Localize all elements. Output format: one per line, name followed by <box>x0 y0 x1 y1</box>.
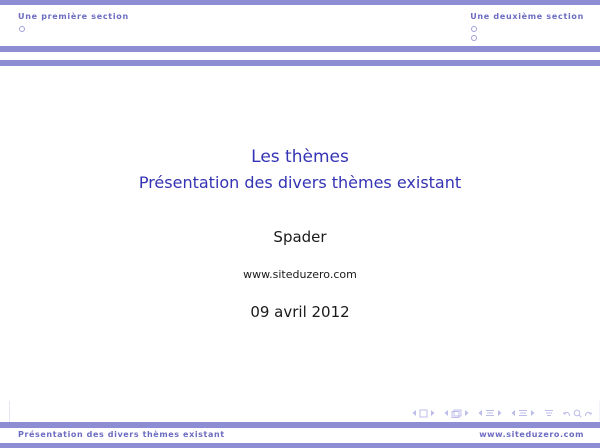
forward-arrow-icon[interactable] <box>584 409 592 418</box>
nav-section-2-label: Une deuxième section <box>470 11 584 23</box>
next-frame-icon[interactable] <box>464 409 469 417</box>
presentation-date: 09 avril 2012 <box>0 303 600 321</box>
footline: Présentation des divers thèmes existant … <box>0 428 600 443</box>
beamer-navigation-symbols[interactable] <box>412 405 592 421</box>
section-lines-icon[interactable] <box>518 409 528 418</box>
header-rule-gap <box>0 52 600 60</box>
back-arrow-icon[interactable] <box>563 409 571 418</box>
header-section-navigation: Une première section Une deuxième sectio… <box>0 5 600 46</box>
nav-section-1-dots <box>18 26 129 32</box>
nav-section-2[interactable]: Une deuxième section <box>470 11 584 44</box>
nav-section-1[interactable]: Une première section <box>18 11 129 35</box>
frame-stack-icon[interactable] <box>451 409 462 418</box>
frame-navigation-group[interactable] <box>444 409 469 418</box>
slide-square-icon[interactable] <box>419 409 428 418</box>
subsection-navigation-group[interactable] <box>478 409 502 418</box>
footline-title: Présentation des divers thèmes existant <box>18 430 225 439</box>
prev-frame-icon[interactable] <box>444 409 449 417</box>
back-search-forward-group[interactable] <box>563 409 592 418</box>
institute-url: www.siteduzero.com <box>0 268 600 281</box>
next-slide-icon[interactable] <box>430 409 435 417</box>
footer-rule-lower <box>0 443 600 448</box>
page-title: Les thèmes <box>0 144 600 170</box>
author-name: Spader <box>0 228 600 246</box>
title-block: Les thèmes Présentation des divers thème… <box>0 144 600 196</box>
subsection-dot[interactable] <box>19 26 25 32</box>
nav-section-2-dots <box>470 26 584 41</box>
presentation-navigation-group[interactable] <box>544 409 554 418</box>
section-navigation-group[interactable] <box>511 409 535 418</box>
subsection-lines-icon[interactable] <box>485 409 495 418</box>
prev-section-icon[interactable] <box>511 409 516 417</box>
next-subsection-icon[interactable] <box>497 409 502 417</box>
prev-slide-icon[interactable] <box>412 409 417 417</box>
footline-url: www.siteduzero.com <box>479 430 584 439</box>
page-subtitle: Présentation des divers thèmes existant <box>0 170 600 196</box>
titlepage: Les thèmes Présentation des divers thème… <box>0 66 600 321</box>
subsection-dot[interactable] <box>471 35 477 41</box>
search-icon[interactable] <box>573 409 582 418</box>
slide-navigation-group[interactable] <box>412 409 435 418</box>
next-section-icon[interactable] <box>530 409 535 417</box>
prev-subsection-icon[interactable] <box>478 409 483 417</box>
nav-section-1-label: Une première section <box>18 11 129 23</box>
presentation-lines-icon[interactable] <box>544 409 554 418</box>
slide-body: Les thèmes Présentation des divers thème… <box>0 66 600 401</box>
subsection-dot[interactable] <box>471 26 477 32</box>
slide-canvas: Une première section Une deuxième sectio… <box>0 0 600 448</box>
